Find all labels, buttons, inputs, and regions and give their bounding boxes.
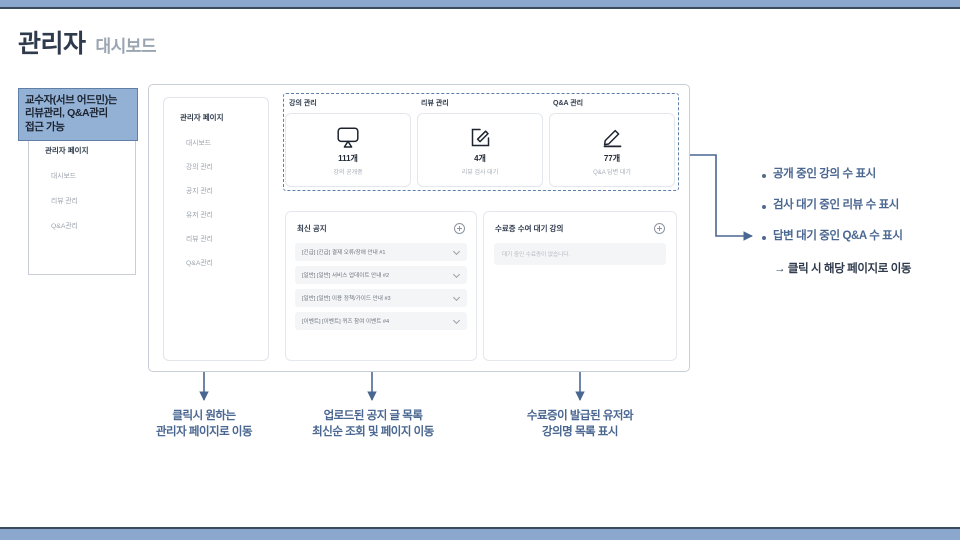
bottom-annotation-sidebar: 클릭시 원하는 관리자 페이지로 이동 bbox=[124, 408, 284, 441]
monitor-screen-icon bbox=[337, 124, 359, 150]
callout-line-2: 리뷰관리, Q&A관리 bbox=[25, 107, 131, 120]
stat-col-lectures: 강의 관리 111개 강의 공개중 bbox=[285, 95, 411, 187]
bottom-decorative-band bbox=[0, 527, 960, 540]
right-annotation-list: 공개 중인 강의 수 표시 검사 대기 중인 리뷰 수 표시 답변 대기 중인 … bbox=[762, 168, 952, 276]
stat-card-reviews[interactable]: 4개 리뷰 검사 대기 bbox=[417, 113, 543, 187]
plus-circle-icon[interactable] bbox=[454, 223, 465, 234]
cert-empty-state: 대기 중인 수료증이 없습니다. bbox=[494, 243, 666, 265]
annotation-text: 공개 중인 강의 수 표시 bbox=[773, 168, 876, 182]
bottom-annotation-line-1: 업로드된 공지 글 목록 bbox=[276, 408, 470, 424]
chevron-down-icon[interactable] bbox=[453, 272, 460, 279]
notice-row[interactable]: [긴급] [긴급] 결제 오류/장애 안내 #1 bbox=[295, 243, 467, 261]
mini-sidebar-item-qna[interactable]: Q&A관리 bbox=[37, 220, 129, 230]
sidebar-item-dashboard[interactable]: 대시보드 bbox=[164, 137, 268, 147]
edit-square-icon bbox=[470, 124, 491, 150]
notice-list: [긴급] [긴급] 결제 오류/장애 안내 #1 [일반] [일반] 서비스 업… bbox=[286, 234, 476, 330]
cert-panel-header: 수료증 수여 대기 강의 bbox=[484, 212, 676, 234]
page-title-main: 관리자 bbox=[18, 24, 86, 60]
stat-col-reviews: 리뷰 관리 4개 리뷰 검사 대기 bbox=[417, 95, 543, 187]
stat-label-qna: Q&A 관리 bbox=[553, 98, 675, 108]
notice-row-text: [긴급] [긴급] 결제 오류/장애 안내 #1 bbox=[302, 248, 386, 256]
mini-sidebar-item-dashboard[interactable]: 대시보드 bbox=[37, 170, 129, 180]
bottom-annotation-line-1: 클릭시 원하는 bbox=[124, 408, 284, 424]
pencil-write-icon bbox=[602, 124, 623, 150]
page-title: 관리자 대시보드 bbox=[18, 24, 156, 60]
cert-empty-text: 대기 중인 수료증이 없습니다. bbox=[502, 250, 570, 258]
notice-panel-header: 최신 공지 bbox=[286, 212, 476, 234]
bottom-annotation-line-2: 관리자 페이지로 이동 bbox=[124, 424, 284, 440]
stat-card-lectures[interactable]: 111개 강의 공개중 bbox=[285, 113, 411, 187]
admin-dashboard-mock: 관리자 페이지 대시보드 강의 관리 공지 관리 유저 관리 리뷰 관리 Q&A… bbox=[148, 84, 690, 372]
stat-label-lectures: 강의 관리 bbox=[289, 98, 411, 108]
notice-row[interactable]: [이벤트] [이벤트] 퀴즈 참여 이벤트 #4 bbox=[295, 312, 467, 330]
notice-row[interactable]: [일반] [일반] 이용 정책/가이드 안내 #3 bbox=[295, 289, 467, 307]
stat-cards-row: 강의 관리 111개 강의 공개중 리뷰 관리 bbox=[285, 95, 677, 187]
annotation-bullet-qna: 답변 대기 중인 Q&A 수 표시 bbox=[762, 230, 952, 244]
plus-circle-icon[interactable] bbox=[654, 223, 665, 234]
bottom-annotation-line-1: 수료증이 발급된 유저와 bbox=[490, 408, 670, 424]
callout-line-3: 접근 가능 bbox=[25, 121, 131, 134]
annotation-bullet-reviews: 검사 대기 중인 리뷰 수 표시 bbox=[762, 199, 952, 213]
stat-label-reviews: 리뷰 관리 bbox=[421, 98, 543, 108]
callout-professor-access: 교수자(서브 어드민)는 리뷰관리, Q&A관리 접근 가능 bbox=[18, 88, 138, 141]
mini-sidebar-heading: 관리자 페이지 bbox=[37, 145, 129, 156]
notice-row-text: [일반] [일반] 이용 정책/가이드 안내 #3 bbox=[302, 294, 391, 302]
stat-value-reviews: 4개 bbox=[474, 153, 486, 164]
slide-canvas: 관리자 대시보드 관리자 페이지 대시보드 리뷰 관리 Q&A관리 교수자(서브… bbox=[0, 0, 960, 540]
sidebar-item-lectures[interactable]: 강의 관리 bbox=[164, 161, 268, 171]
annotation-bullet-lectures: 공개 중인 강의 수 표시 bbox=[762, 168, 952, 182]
bottom-annotation-line-2: 최신순 조회 및 페이지 이동 bbox=[276, 424, 470, 440]
bottom-annotation-line-2: 강의명 목록 표시 bbox=[490, 424, 670, 440]
sidebar-item-notices[interactable]: 공지 관리 bbox=[164, 185, 268, 195]
cert-panel-title: 수료증 수여 대기 강의 bbox=[495, 223, 563, 234]
sidebar-item-reviews[interactable]: 리뷰 관리 bbox=[164, 233, 268, 243]
stat-col-qna: Q&A 관리 77개 Q&A 답변 대기 bbox=[549, 95, 675, 187]
annotation-text: 검사 대기 중인 리뷰 수 표시 bbox=[773, 199, 899, 213]
sidebar-heading: 관리자 페이지 bbox=[164, 112, 268, 123]
annotation-text: 답변 대기 중인 Q&A 수 표시 bbox=[773, 230, 903, 244]
top-decorative-band bbox=[0, 0, 960, 9]
sidebar-item-users[interactable]: 유저 관리 bbox=[164, 209, 268, 219]
admin-sidebar: 관리자 페이지 대시보드 강의 관리 공지 관리 유저 관리 리뷰 관리 Q&A… bbox=[163, 97, 269, 361]
page-title-sub: 대시보드 bbox=[96, 32, 157, 57]
stat-caption-qna: Q&A 답변 대기 bbox=[593, 167, 631, 176]
bullet-dot-icon bbox=[762, 236, 766, 240]
certificate-waiting-panel: 수료증 수여 대기 강의 대기 중인 수료증이 없습니다. bbox=[483, 211, 677, 361]
notice-row-text: [이벤트] [이벤트] 퀴즈 참여 이벤트 #4 bbox=[302, 317, 389, 325]
stat-value-lectures: 111개 bbox=[338, 153, 358, 164]
annotation-click-navigates: → 클릭 시 해당 페이지로 이동 bbox=[774, 260, 952, 276]
chevron-down-icon[interactable] bbox=[453, 249, 460, 256]
bullet-dot-icon bbox=[762, 205, 766, 209]
bottom-annotation-certificate: 수료증이 발급된 유저와 강의명 목록 표시 bbox=[490, 408, 670, 441]
stat-card-qna[interactable]: 77개 Q&A 답변 대기 bbox=[549, 113, 675, 187]
stat-caption-reviews: 리뷰 검사 대기 bbox=[462, 167, 498, 176]
latest-notice-panel: 최신 공지 [긴급] [긴급] 결제 오류/장애 안내 #1 [일반] [일반]… bbox=[285, 211, 477, 361]
notice-row-text: [일반] [일반] 서비스 업데이트 안내 #2 bbox=[302, 271, 389, 279]
sidebar-item-qna[interactable]: Q&A관리 bbox=[164, 257, 268, 267]
mini-sidebar-item-review[interactable]: 리뷰 관리 bbox=[37, 195, 129, 205]
callout-line-1: 교수자(서브 어드민)는 bbox=[25, 94, 131, 107]
bullet-dot-icon bbox=[762, 174, 766, 178]
stat-caption-lectures: 강의 공개중 bbox=[333, 167, 362, 176]
stat-value-qna: 77개 bbox=[604, 153, 620, 164]
notice-panel-title: 최신 공지 bbox=[297, 223, 327, 234]
notice-row[interactable]: [일반] [일반] 서비스 업데이트 안내 #2 bbox=[295, 266, 467, 284]
chevron-down-icon[interactable] bbox=[453, 318, 460, 325]
bottom-annotation-notice: 업로드된 공지 글 목록 최신순 조회 및 페이지 이동 bbox=[276, 408, 470, 441]
chevron-down-icon[interactable] bbox=[453, 295, 460, 302]
